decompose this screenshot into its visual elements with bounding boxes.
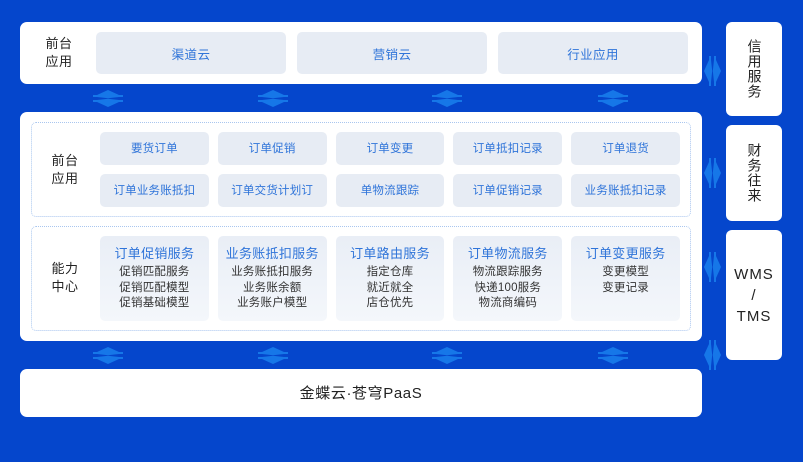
card-item: 业务账抵扣服务	[221, 265, 324, 281]
front-end-application-section: 前台 应用 要货订单 订单促销 订单变更 订单抵扣记录 订单退货 订单业务账抵扣…	[31, 122, 691, 217]
app-chip-marketing-cloud[interactable]: 营销云	[297, 32, 487, 74]
right-box-label: 信用服务	[744, 39, 765, 99]
vertical-connector-3	[704, 252, 721, 287]
right-box-financial-transactions[interactable]: 财务往来	[726, 125, 782, 221]
front-end-applications-panel: 前台 应用 渠道云 营销云 行业应用	[20, 22, 702, 84]
capability-card-order-logistics-service[interactable]: 订单物流服务 物流跟踪服务 快递100服务 物流商编码	[453, 236, 562, 321]
card-item: 店仓优先	[339, 296, 442, 312]
vertical-connector-1	[704, 56, 721, 91]
vertical-connector-2	[704, 158, 721, 193]
card-item: 业务账余额	[221, 281, 324, 297]
app-chip-industry-application[interactable]: 行业应用	[498, 32, 688, 74]
right-box-label-line-2: /	[751, 285, 756, 306]
card-item: 就近就全	[339, 281, 442, 297]
cloud-app-chip-group: 渠道云 营销云 行业应用	[88, 32, 688, 74]
front-end-chip-grid: 要货订单 订单促销 订单变更 订单抵扣记录 订单退货 订单业务账抵扣 订单交货计…	[94, 132, 680, 207]
card-title: 订单物流服务	[456, 243, 559, 262]
double-chevron-horizontal-icon	[93, 347, 123, 364]
card-item: 业务账户模型	[221, 296, 324, 312]
card-item: 变更记录	[574, 281, 677, 297]
paas-platform-label: 金蝶云·苍穹PaaS	[300, 382, 423, 403]
label-line-1: 能力	[36, 260, 94, 278]
double-chevron-vertical-icon	[704, 252, 721, 282]
connector-strip-upper	[20, 84, 702, 112]
right-box-label-line-1: WMS	[734, 264, 774, 285]
card-item: 促销匹配模型	[103, 281, 206, 297]
card-title: 订单变更服务	[574, 243, 677, 262]
capability-card-order-change-service[interactable]: 订单变更服务 变更模型 变更记录	[571, 236, 680, 321]
diagram-canvas: 前台 应用 渠道云 营销云 行业应用	[0, 0, 803, 462]
right-box-label: 财务往来	[744, 143, 765, 203]
label-line-1: 前台	[30, 35, 88, 53]
right-box-label-line-3: TMS	[737, 306, 772, 327]
chip-order-deduction-record[interactable]: 订单抵扣记录	[453, 132, 562, 165]
label-line-2: 中心	[36, 278, 94, 296]
label-line-1: 前台	[36, 152, 94, 170]
card-title: 业务账抵扣服务	[221, 243, 324, 262]
card-item: 变更模型	[574, 265, 677, 281]
main-column: 前台 应用 渠道云 营销云 行业应用	[20, 22, 702, 417]
chip-business-account-deduction-record[interactable]: 业务账抵扣记录	[571, 174, 680, 207]
double-chevron-horizontal-icon	[432, 347, 462, 364]
capability-center-label: 能力 中心	[36, 260, 94, 296]
card-item: 物流跟踪服务	[456, 265, 559, 281]
card-title: 订单促销服务	[103, 243, 206, 262]
vertical-connector-4	[704, 340, 721, 375]
right-box-wms-tms[interactable]: WMS / TMS	[726, 230, 782, 360]
chip-order-delivery-plan[interactable]: 订单交货计划订	[218, 174, 327, 207]
chip-order-request[interactable]: 要货订单	[100, 132, 209, 165]
double-chevron-vertical-icon	[704, 340, 721, 370]
double-chevron-horizontal-icon	[258, 347, 288, 364]
double-chevron-vertical-icon	[704, 158, 721, 188]
connector-strip-lower	[20, 341, 702, 369]
capability-card-grid: 订单促销服务 促销匹配服务 促销匹配模型 促销基础模型 业务账抵扣服务 业务账抵…	[94, 236, 680, 321]
label-line-2: 应用	[30, 53, 88, 71]
card-item: 快递100服务	[456, 281, 559, 297]
double-chevron-vertical-icon	[704, 56, 721, 86]
capability-card-order-promotion-service[interactable]: 订单促销服务 促销匹配服务 促销匹配模型 促销基础模型	[100, 236, 209, 321]
double-chevron-horizontal-icon	[598, 347, 628, 364]
card-item: 物流商编码	[456, 296, 559, 312]
double-chevron-horizontal-icon	[598, 90, 628, 107]
double-chevron-horizontal-icon	[432, 90, 462, 107]
chip-order-business-account-deduction[interactable]: 订单业务账抵扣	[100, 174, 209, 207]
card-item: 促销基础模型	[103, 296, 206, 312]
card-item: 指定仓库	[339, 265, 442, 281]
card-item: 促销匹配服务	[103, 265, 206, 281]
paas-platform-bar: 金蝶云·苍穹PaaS	[20, 369, 702, 417]
chip-order-change[interactable]: 订单变更	[336, 132, 445, 165]
front-end-application-section-label: 前台 应用	[36, 152, 94, 188]
capability-card-order-routing-service[interactable]: 订单路由服务 指定仓库 就近就全 店仓优先	[336, 236, 445, 321]
middle-panel: 前台 应用 要货订单 订单促销 订单变更 订单抵扣记录 订单退货 订单业务账抵扣…	[20, 112, 702, 341]
double-chevron-horizontal-icon	[258, 90, 288, 107]
app-chip-channel-cloud[interactable]: 渠道云	[96, 32, 286, 74]
chip-order-logistics-tracking[interactable]: 单物流跟踪	[336, 174, 445, 207]
capability-center-section: 能力 中心 订单促销服务 促销匹配服务 促销匹配模型 促销基础模型 业务账抵扣服…	[31, 226, 691, 331]
capability-card-business-account-deduction-service[interactable]: 业务账抵扣服务 业务账抵扣服务 业务账余额 业务账户模型	[218, 236, 327, 321]
right-column: 信用服务 财务往来 WMS / TMS	[726, 22, 782, 360]
chip-order-promotion-record[interactable]: 订单促销记录	[453, 174, 562, 207]
double-chevron-horizontal-icon	[93, 90, 123, 107]
label-line-2: 应用	[36, 170, 94, 188]
right-box-credit-service[interactable]: 信用服务	[726, 22, 782, 116]
card-title: 订单路由服务	[339, 243, 442, 262]
chip-order-promotion[interactable]: 订单促销	[218, 132, 327, 165]
front-end-applications-label: 前台 应用	[30, 35, 88, 71]
chip-order-return[interactable]: 订单退货	[571, 132, 680, 165]
